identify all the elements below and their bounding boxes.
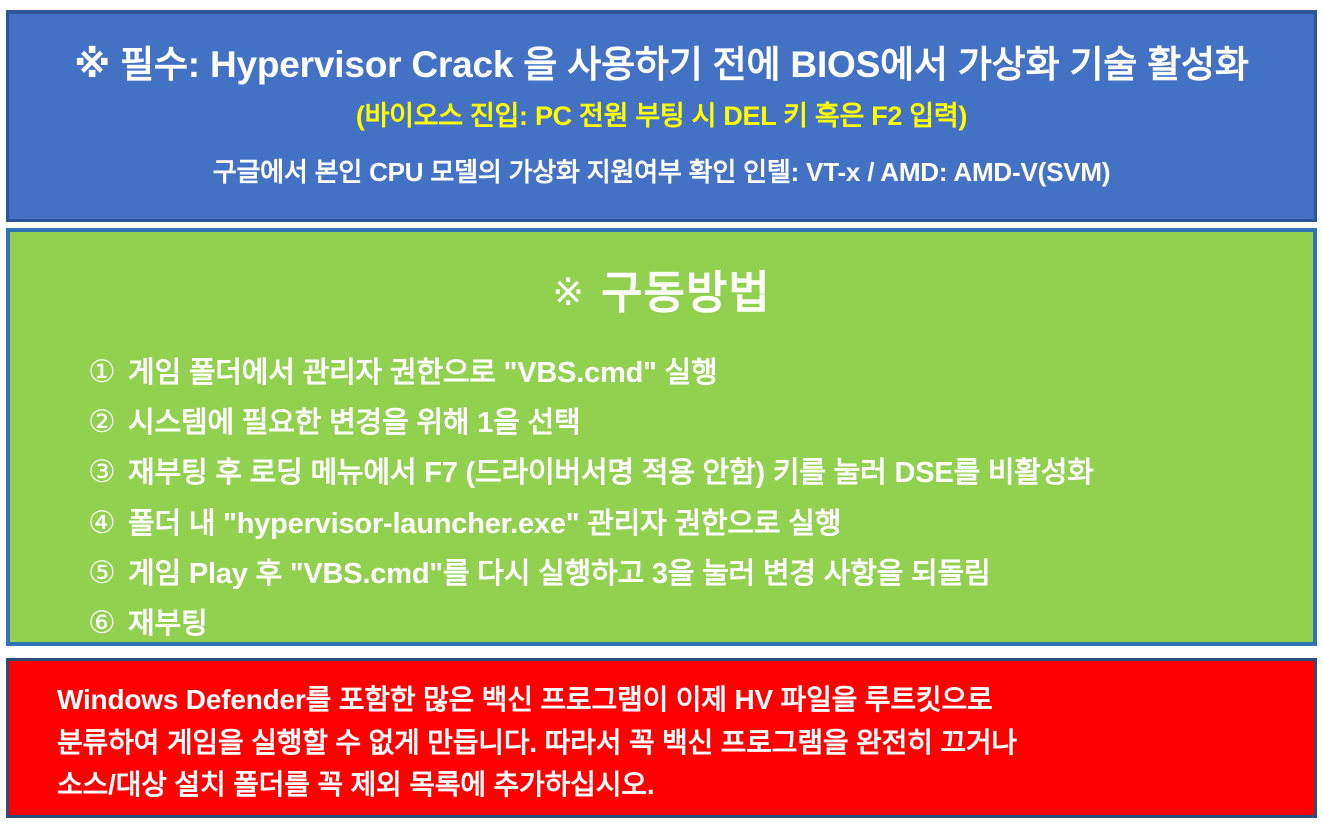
step-number: ⑤ — [88, 548, 128, 598]
list-item: ③재부팅 후 로딩 메뉴에서 F7 (드라이버서명 적용 안함) 키를 눌러 D… — [88, 447, 1313, 497]
list-item: ④폴더 내 "hypervisor-launcher.exe" 관리자 권한으로… — [88, 498, 1313, 548]
step-text: 게임 Play 후 "VBS.cmd"를 다시 실행하고 3을 눌러 변경 사항… — [128, 558, 990, 590]
bios-requirement-headline: ※ 필수: Hypervisor Crack 을 사용하기 전에 BIOS에서 … — [74, 44, 1248, 87]
step-text: 재부팅 후 로딩 메뉴에서 F7 (드라이버서명 적용 안함) 키를 눌러 DS… — [128, 457, 1094, 489]
warning-line-2: 분류하여 게임을 실행할 수 없게 만듭니다. 따라서 꼭 백신 프로그램을 완… — [57, 722, 1314, 765]
list-item: ⑥재부팅 — [88, 598, 1313, 648]
warning-line-3: 소스/대상 설치 폴더를 꼭 제외 목록에 추가하십시오. — [57, 764, 1314, 807]
howto-step-list: ①게임 폴더에서 관리자 권한으로 "VBS.cmd" 실행 ②시스템에 필요한… — [10, 347, 1313, 648]
step-text: 재부팅 — [128, 608, 207, 640]
list-item: ⑤게임 Play 후 "VBS.cmd"를 다시 실행하고 3을 눌러 변경 사… — [88, 548, 1313, 598]
step-text: 시스템에 필요한 변경을 위해 1을 선택 — [128, 407, 580, 439]
cpu-virtualization-check-note: 구글에서 본인 CPU 모델의 가상화 지원여부 확인 인텔: VT-x / A… — [213, 158, 1111, 188]
step-text: 폴더 내 "hypervisor-launcher.exe" 관리자 권한으로 … — [128, 508, 841, 540]
bios-requirement-panel: ※ 필수: Hypervisor Crack 을 사용하기 전에 BIOS에서 … — [6, 10, 1317, 222]
reference-mark-icon: ※ — [552, 272, 585, 314]
step-number: ② — [88, 397, 128, 447]
list-item: ①게임 폴더에서 관리자 권한으로 "VBS.cmd" 실행 — [88, 347, 1313, 397]
step-number: ⑥ — [88, 598, 128, 648]
guide-page: ※ 필수: Hypervisor Crack 을 사용하기 전에 BIOS에서 … — [0, 0, 1323, 828]
antivirus-warning-panel: Windows Defender를 포함한 많은 백신 프로그램이 이제 HV … — [6, 658, 1317, 818]
step-text: 게임 폴더에서 관리자 권한으로 "VBS.cmd" 실행 — [128, 357, 718, 389]
howto-title: ※구동방법 — [10, 256, 1313, 321]
step-number: ④ — [88, 498, 128, 548]
howto-title-label: 구동방법 — [601, 267, 771, 318]
step-number: ① — [88, 347, 128, 397]
step-number: ③ — [88, 447, 128, 497]
bios-entry-hint: (바이오스 진입: PC 전원 부팅 시 DEL 키 혹은 F2 입력) — [356, 101, 967, 132]
howto-panel: ※구동방법 ①게임 폴더에서 관리자 권한으로 "VBS.cmd" 실행 ②시스… — [6, 228, 1317, 646]
list-item: ②시스템에 필요한 변경을 위해 1을 선택 — [88, 397, 1313, 447]
warning-line-1: Windows Defender를 포함한 많은 백신 프로그램이 이제 HV … — [57, 679, 1314, 722]
